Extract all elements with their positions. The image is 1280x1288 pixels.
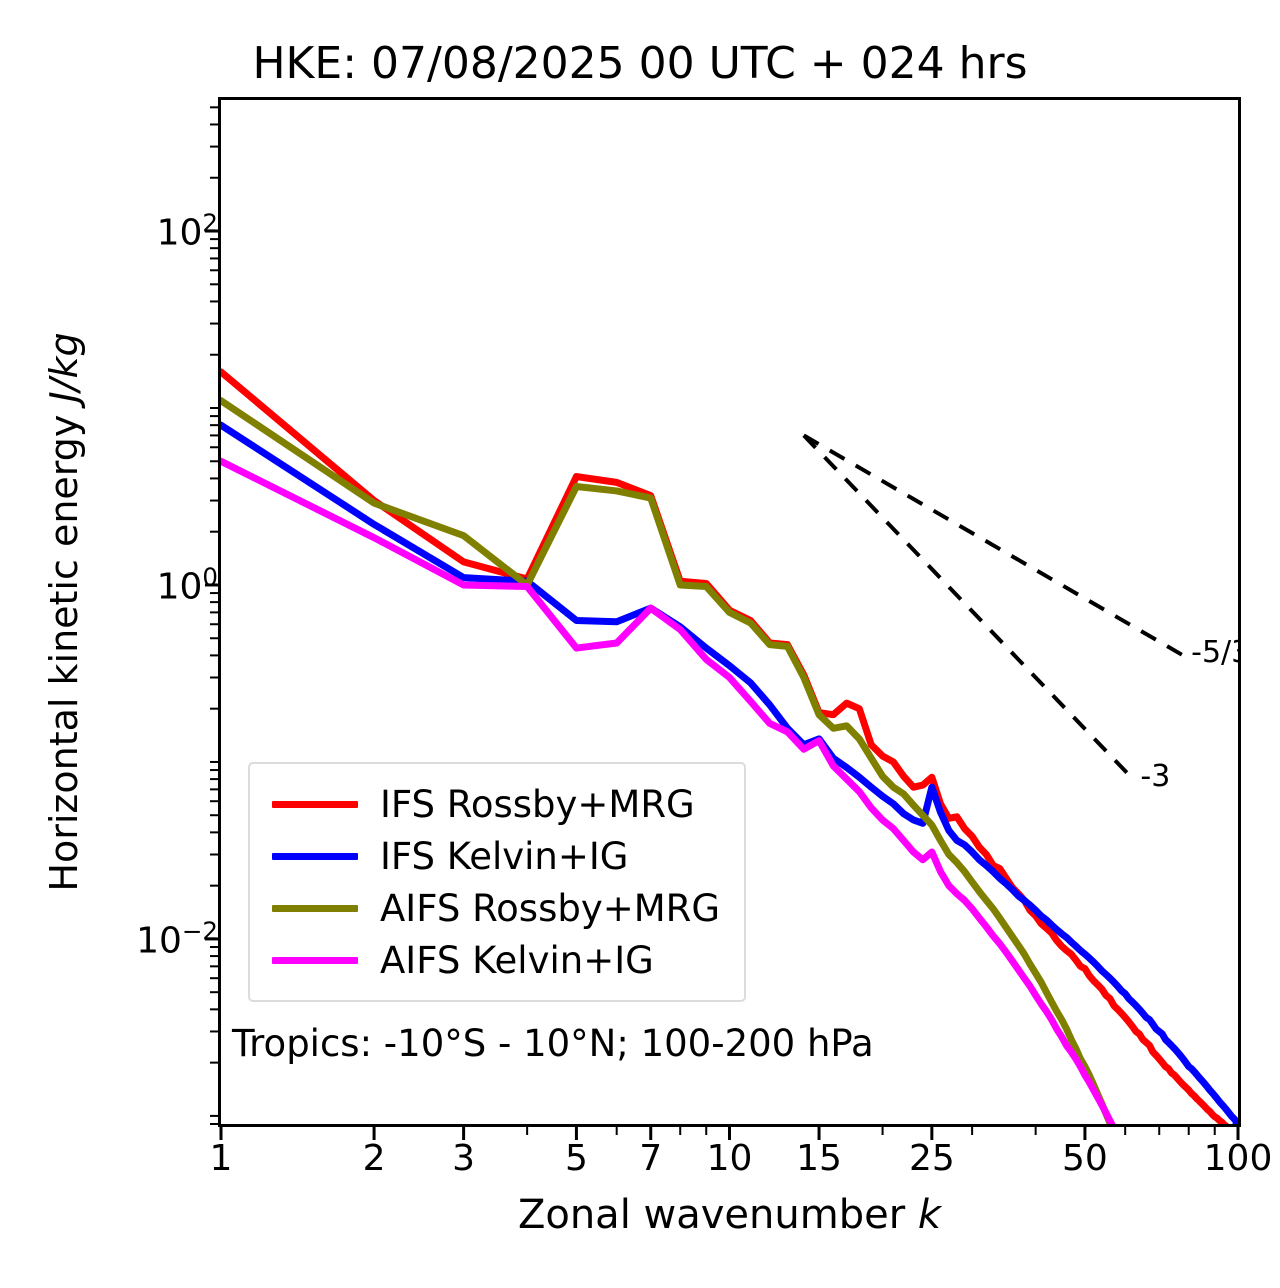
y-axis-label: Horizontal kinetic energy J/kg xyxy=(42,97,112,1127)
x-tick-label-5: 5 xyxy=(565,1138,588,1179)
x-axis-label-text: Zonal wavenumber xyxy=(518,1192,918,1238)
y-tick-base: 10 xyxy=(157,213,203,254)
legend-label: AIFS Kelvin+IG xyxy=(380,942,654,979)
x-tick-label-2: 2 xyxy=(363,1138,386,1179)
x-axis-label: Zonal wavenumber k xyxy=(218,1192,1241,1238)
y-tick-base: 10 xyxy=(157,566,203,607)
y-tick-exponent: 0 xyxy=(202,562,218,591)
legend-swatch-icon xyxy=(272,801,358,808)
legend: IFS Rossby+MRGIFS Kelvin+IGAIFS Rossby+M… xyxy=(248,762,746,1002)
legend-item-1[interactable]: IFS Kelvin+IG xyxy=(260,830,734,882)
x-axis-label-symbol: k xyxy=(918,1192,941,1238)
legend-swatch-icon xyxy=(272,853,358,860)
legend-item-3[interactable]: AIFS Kelvin+IG xyxy=(260,934,734,986)
y-axis-label-units: J/kg xyxy=(42,332,86,402)
y-tick-exponent: −2 xyxy=(182,916,218,945)
figure: HKE: 07/08/2025 00 UTC + 024 hrs -5/3-3 … xyxy=(0,0,1280,1288)
x-tick-label-50: 50 xyxy=(1062,1138,1108,1179)
legend-swatch-icon xyxy=(272,905,358,912)
x-tick-label-25: 25 xyxy=(909,1138,955,1179)
region-annotation: Tropics: -10°S - 10°N; 100-200 hPa xyxy=(232,1022,874,1065)
y-tick-label-1: 100 xyxy=(157,562,218,607)
legend-label: IFS Kelvin+IG xyxy=(380,838,628,875)
x-tick-label-100: 100 xyxy=(1204,1138,1273,1179)
axis-ticks xyxy=(0,0,1280,1288)
legend-item-0[interactable]: IFS Rossby+MRG xyxy=(260,778,734,830)
x-tick-label-1: 1 xyxy=(210,1138,233,1179)
y-tick-label-0: 102 xyxy=(157,209,218,254)
y-tick-exponent: 2 xyxy=(202,209,218,238)
x-tick-label-10: 10 xyxy=(707,1138,753,1179)
legend-label: AIFS Rossby+MRG xyxy=(380,890,720,927)
legend-label: IFS Rossby+MRG xyxy=(380,786,695,823)
legend-item-2[interactable]: AIFS Rossby+MRG xyxy=(260,882,734,934)
y-tick-label-2: 10−2 xyxy=(136,916,218,961)
legend-swatch-icon xyxy=(272,957,358,964)
x-tick-label-15: 15 xyxy=(796,1138,842,1179)
y-axis-label-text: Horizontal kinetic energy xyxy=(42,403,86,892)
x-tick-label-3: 3 xyxy=(452,1138,475,1179)
x-tick-label-7: 7 xyxy=(639,1138,662,1179)
y-tick-base: 10 xyxy=(136,920,182,961)
